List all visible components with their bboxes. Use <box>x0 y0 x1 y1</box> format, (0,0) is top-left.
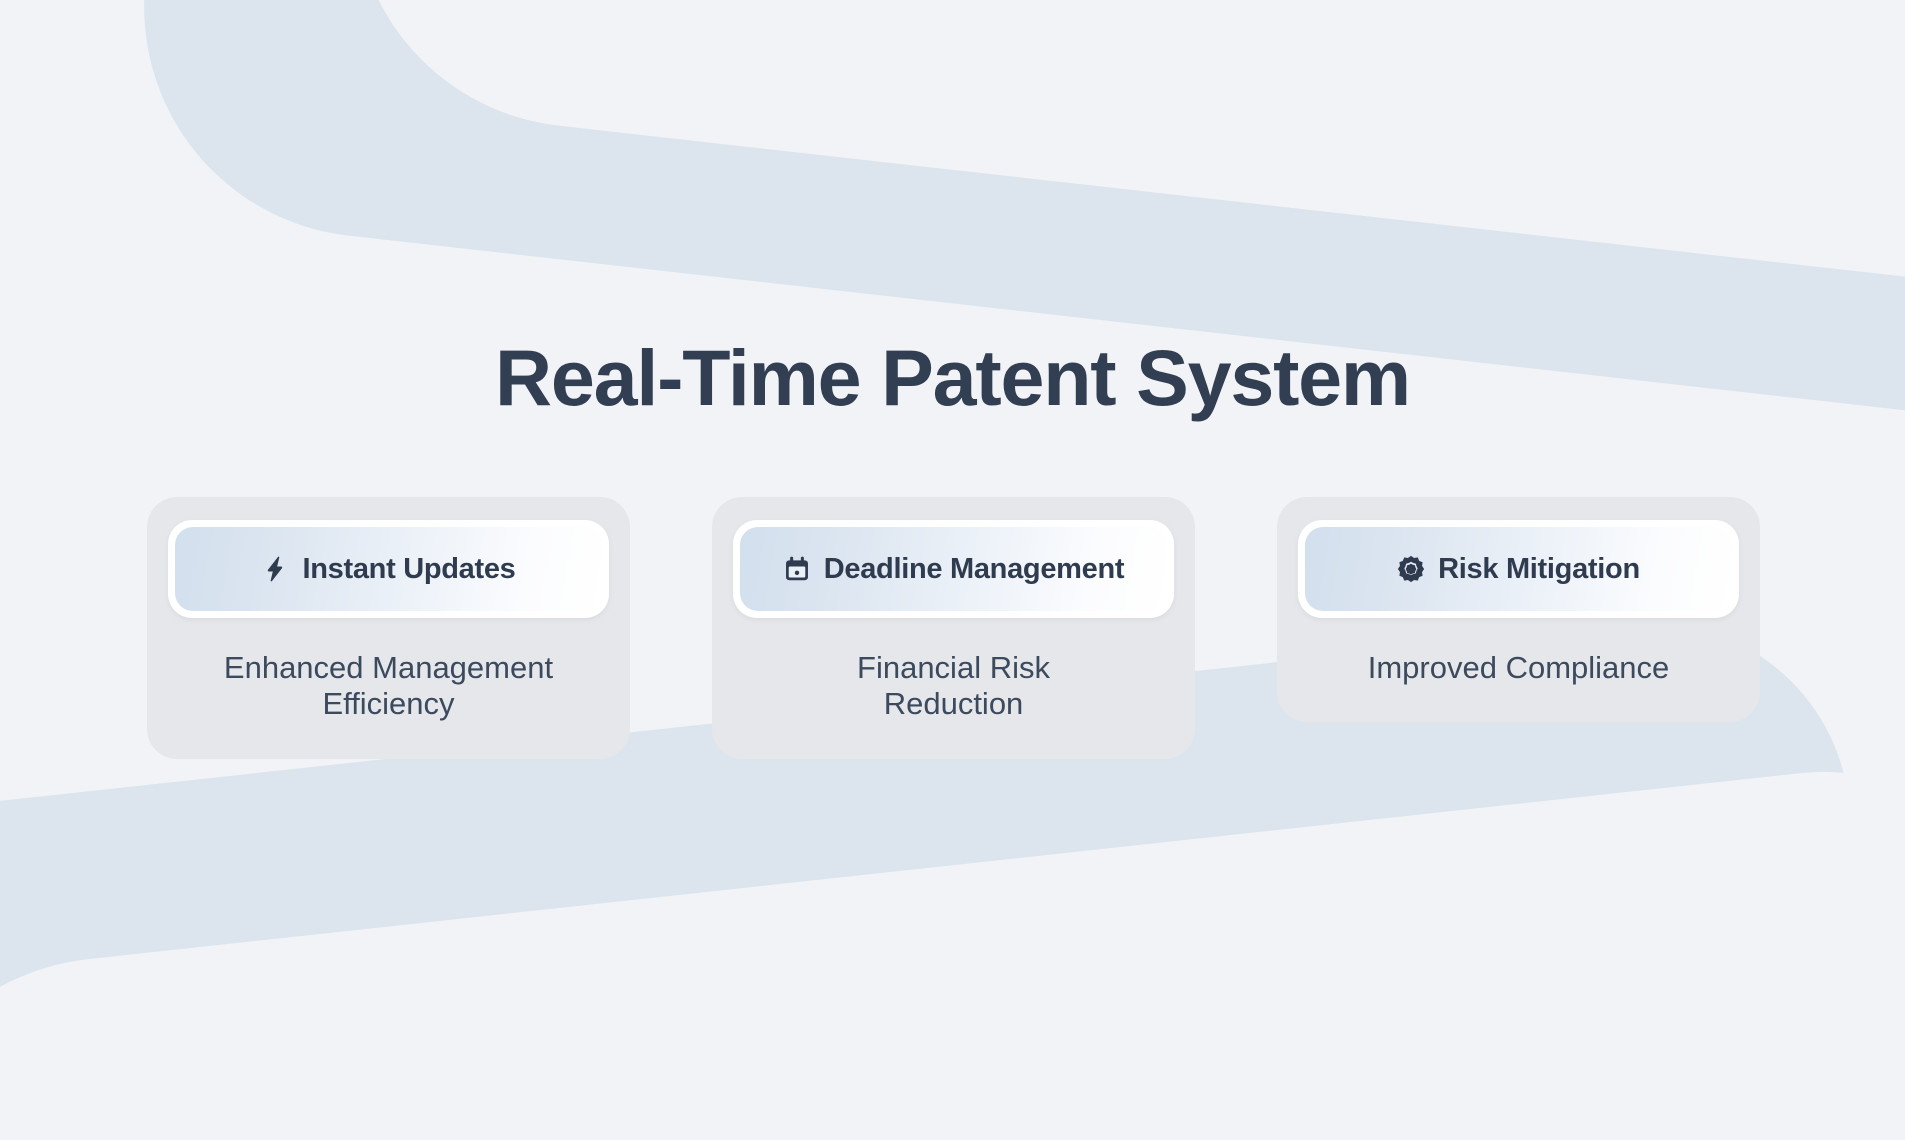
feature-benefit-text: Financial Risk Reduction <box>784 650 1124 723</box>
feature-pill-ring: Deadline Management <box>733 520 1174 618</box>
feature-card-list: Instant Updates Enhanced Management Effi… <box>147 497 1760 759</box>
feature-benefit-text: Enhanced Management Efficiency <box>219 650 559 723</box>
feature-pill[interactable]: Deadline Management <box>740 527 1167 611</box>
page-title: Real-Time Patent System <box>0 338 1905 417</box>
feature-card-deadline-management[interactable]: Deadline Management Financial Risk Reduc… <box>712 497 1195 759</box>
lightning-bolt-icon <box>261 555 289 583</box>
feature-pill-label: Deadline Management <box>824 553 1125 586</box>
badge-rosette-icon <box>1397 555 1425 583</box>
feature-pill-label: Instant Updates <box>302 553 515 586</box>
feature-benefit-text: Improved Compliance <box>1368 650 1670 686</box>
feature-pill-label: Risk Mitigation <box>1438 553 1640 586</box>
feature-pill-ring: Instant Updates <box>168 520 609 618</box>
slide-canvas: Real-Time Patent System Instant Updates … <box>0 0 1905 1140</box>
feature-card-instant-updates[interactable]: Instant Updates Enhanced Management Effi… <box>147 497 630 759</box>
feature-pill[interactable]: Risk Mitigation <box>1305 527 1732 611</box>
feature-pill[interactable]: Instant Updates <box>175 527 602 611</box>
feature-pill-ring: Risk Mitigation <box>1298 520 1739 618</box>
calendar-icon <box>783 555 811 583</box>
feature-card-risk-mitigation[interactable]: Risk Mitigation Improved Compliance <box>1277 497 1760 722</box>
